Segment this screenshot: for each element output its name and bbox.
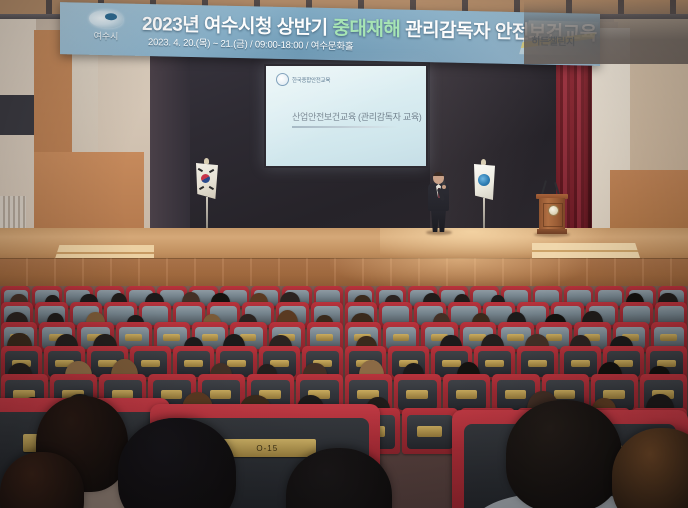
projection-screen-frame: 한국종합안전교육 산업안전보건교육 (관리감독자 교육)	[264, 64, 428, 168]
presenter-legs	[431, 210, 446, 232]
seat-number-plate	[507, 334, 524, 341]
slide-organization-logo: 한국종합안전교육	[276, 73, 330, 86]
seat-number-plate	[660, 334, 677, 341]
seat-number-plate	[161, 390, 183, 399]
audience-seating: O-14O-15O-17	[0, 286, 688, 508]
banner-title-part-2: 중대재해	[332, 18, 400, 40]
seat-number-plate	[125, 334, 142, 341]
seat-number-plate	[163, 334, 180, 341]
city-logo-label: 여수시	[74, 28, 138, 42]
audience-member-head	[506, 400, 622, 508]
presenter	[424, 172, 454, 234]
lectern	[536, 188, 568, 236]
banner-shadow-occlusion	[524, 0, 688, 64]
flag-finial-left	[204, 158, 209, 164]
seat-number-plate	[554, 390, 576, 399]
seat-number-plate	[571, 360, 590, 367]
auditorium-photo: 여수시 2023년 여수시청 상반기 중대재해 관리감독자 안전보건교육 202…	[0, 0, 688, 508]
taeguk-symbol	[201, 174, 210, 183]
presenter-shadow	[426, 230, 452, 235]
city-logo: 여수시	[74, 8, 138, 49]
trigram-bar	[209, 169, 214, 173]
seat-number-plate	[417, 426, 442, 436]
seat	[402, 408, 457, 454]
seat-number-plate	[184, 360, 203, 367]
lectern-emblem	[548, 205, 559, 216]
seat-number-plate	[141, 360, 160, 367]
lectern-base	[537, 229, 567, 234]
shield-icon	[276, 73, 289, 86]
left-wall-dark-recess	[0, 95, 34, 135]
slide-divider	[292, 126, 398, 128]
flag-cloth-organization	[474, 164, 495, 200]
seat-number-plate: O-15	[219, 439, 316, 457]
organization-emblem	[478, 174, 490, 186]
trigram-bar	[199, 186, 204, 190]
seat-number-plate	[316, 334, 333, 341]
trigram-bar	[198, 168, 203, 172]
seat-number-plate	[202, 334, 219, 341]
slide-organization-label: 한국종합안전교육	[292, 76, 330, 84]
seat-number-plate	[456, 390, 478, 399]
seat-number-plate	[505, 390, 527, 399]
presenter-head	[433, 172, 444, 184]
seat-number-plate	[528, 360, 547, 367]
presenter-hand	[442, 185, 446, 189]
trigram-bar	[209, 186, 214, 190]
flag-pole-right	[483, 198, 485, 232]
organization-flag	[474, 164, 500, 208]
seat-number-plate	[546, 334, 563, 341]
projection-screen: 한국종합안전교육 산업안전보건교육 (관리감독자 교육)	[266, 66, 426, 166]
flag-pole-left	[206, 197, 208, 231]
seat-number-plate	[393, 334, 410, 341]
seat-number-plate	[442, 360, 461, 367]
seat-number-plate	[227, 360, 246, 367]
seat-number-plate	[406, 390, 428, 399]
seat-number-plate	[210, 390, 232, 399]
flag-finial-right	[481, 159, 486, 165]
korean-national-flag	[196, 163, 222, 207]
slide-title: 산업안전보건교육 (관리감독자 교육)	[292, 110, 422, 123]
flag-cloth-korea	[196, 163, 218, 199]
city-logo-mark	[89, 10, 123, 29]
seat-number-plate	[485, 360, 504, 367]
